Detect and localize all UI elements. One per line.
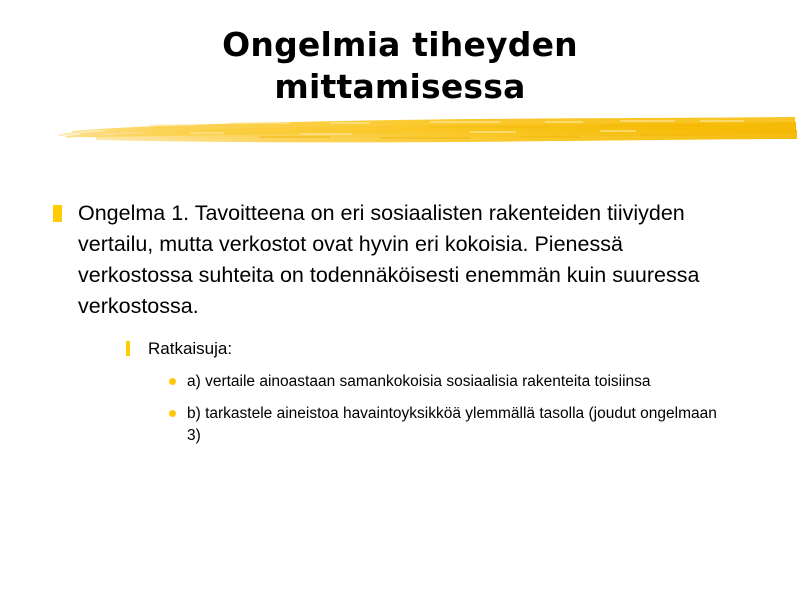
bullet-level-3-a-text: a) vertaile ainoastaan samankokoisia sos… <box>187 373 651 390</box>
bullet-level-1-text: Ongelma 1. Tavoitteena on eri sosiaalist… <box>78 198 742 322</box>
bullet-level-3-b: b) tarkastele aineistoa havaintoyksikköä… <box>0 403 800 447</box>
vertical-bar-bullet-icon <box>126 341 130 356</box>
slide-title: Ongelmia tiheyden mittamisessa <box>60 24 740 108</box>
bullet-level-3-b-text: b) tarkastele aineistoa havaintoyksikköä… <box>187 405 717 444</box>
bullet-level-1: Ongelma 1. Tavoitteena on eri sosiaalist… <box>0 198 800 322</box>
slide-body: Ongelma 1. Tavoitteena on eri sosiaalist… <box>0 198 800 447</box>
slide-title-line-2: mittamisessa <box>60 66 740 108</box>
filled-circle-bullet-icon <box>169 378 176 385</box>
brush-stroke-icon <box>0 112 800 146</box>
bullet-level-2-text: Ratkaisuja: <box>148 339 232 358</box>
presentation-slide: Ongelmia tiheyden mittamisessa <box>0 0 800 600</box>
filled-circle-bullet-icon <box>169 410 176 417</box>
filled-square-bullet-icon <box>53 205 62 222</box>
bullet-level-2: Ratkaisuja: <box>0 337 800 361</box>
slide-title-line-1: Ongelmia tiheyden <box>60 24 740 66</box>
brush-stroke-divider <box>0 112 800 146</box>
bullet-level-3-a: a) vertaile ainoastaan samankokoisia sos… <box>0 371 800 393</box>
